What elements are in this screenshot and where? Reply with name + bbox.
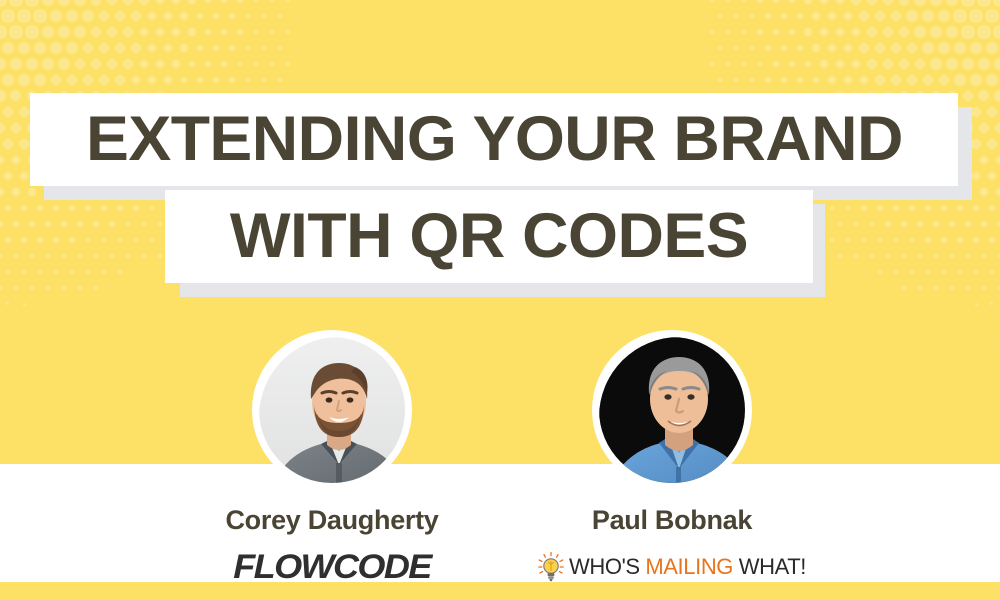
halftone-dot	[189, 61, 196, 68]
halftone-dot	[295, 79, 298, 82]
halftone-dot	[855, 287, 857, 289]
halftone-dot	[156, 60, 164, 68]
whos-mailing-what-logo: WHO'S MAILING WHAT!	[522, 552, 822, 582]
halftone-dot	[812, 12, 819, 19]
halftone-dot	[123, 59, 132, 68]
halftone-dot	[961, 25, 974, 38]
halftone-dot	[820, 0, 828, 4]
halftone-dot	[67, 75, 78, 86]
halftone-dot	[63, 319, 65, 321]
halftone-dot	[9, 0, 23, 7]
halftone-dot	[899, 59, 909, 69]
halftone-dot	[188, 28, 195, 35]
halftone-dot	[55, 335, 57, 337]
halftone-dot	[0, 319, 1, 321]
halftone-dot	[789, 61, 795, 67]
halftone-dot	[286, 0, 289, 2]
halftone-dot	[229, 45, 234, 50]
halftone-dot	[327, 15, 329, 17]
halftone-dot	[303, 31, 306, 34]
halftone-dot	[229, 77, 234, 82]
halftone-dot	[934, 286, 937, 289]
halftone-dot	[990, 302, 993, 305]
halftone-dot	[237, 0, 242, 3]
halftone-dot	[23, 335, 25, 337]
halftone-dot	[895, 303, 897, 305]
halftone-dot	[982, 286, 986, 290]
halftone-dot	[148, 44, 156, 52]
halftone-dot	[181, 77, 188, 84]
halftone-dot	[851, 0, 860, 5]
halftone-dot	[213, 13, 219, 19]
halftone-dot	[883, 27, 893, 37]
halftone-dot	[911, 335, 912, 336]
halftone-dot	[679, 0, 681, 1]
halftone-dot	[278, 14, 282, 18]
halftone-dot	[742, 30, 747, 35]
halftone-dot	[812, 44, 819, 51]
halftone-dot	[180, 44, 187, 51]
halftone-dot	[978, 58, 990, 70]
halftone-dot	[94, 286, 97, 289]
halftone-dot	[863, 303, 865, 305]
title-line-1-text: EXTENDING YOUR BRAND	[86, 108, 903, 171]
halftone-dot	[828, 12, 836, 20]
halftone-dot	[773, 0, 779, 3]
halftone-dot	[781, 45, 787, 51]
halftone-dot	[907, 43, 918, 54]
halftone-dot	[887, 319, 889, 321]
title-line-2: WITH QR CODES	[0, 190, 1000, 285]
halftone-dot	[25, 0, 39, 7]
title-plate: EXTENDING YOUR BRAND	[30, 93, 958, 186]
halftone-dot	[750, 46, 755, 51]
halftone-dot	[970, 42, 983, 55]
halftone-dot	[131, 43, 140, 52]
halftone-dot	[254, 0, 259, 2]
halftone-dot	[205, 61, 211, 67]
halftone-dot	[951, 319, 953, 321]
halftone-dot	[860, 76, 869, 85]
halftone-dot	[962, 58, 974, 70]
halftone-dot	[985, 9, 999, 23]
halftone-dot	[844, 44, 852, 52]
halftone-dot	[99, 75, 109, 85]
halftone-dot	[946, 0, 959, 6]
halftone-dot	[927, 335, 928, 336]
halftone-dot	[993, 0, 1000, 7]
halftone-dot	[123, 27, 133, 37]
halftone-dot	[213, 45, 219, 51]
halftone-dot	[710, 30, 713, 33]
halftone-dot	[859, 43, 868, 52]
halftone-dot	[0, 0, 7, 7]
halftone-dot	[71, 335, 72, 336]
halftone-dot	[687, 47, 689, 49]
halftone-dot	[270, 30, 274, 34]
halftone-dot	[852, 60, 861, 69]
halftone-dot	[0, 25, 7, 39]
halftone-dot	[828, 76, 835, 83]
halftone-dot	[757, 0, 762, 3]
speaker-name: Paul Bobnak	[522, 506, 822, 536]
halftone-dot	[726, 0, 730, 2]
halftone-dot	[111, 287, 114, 290]
halftone-dot	[10, 58, 22, 70]
halftone-dot	[197, 45, 204, 52]
halftone-dot	[156, 28, 164, 36]
halftone-dot	[993, 25, 1000, 39]
halftone-dot	[83, 75, 93, 85]
halftone-dot	[847, 303, 849, 305]
halftone-dot	[902, 286, 905, 289]
halftone-dot	[923, 75, 934, 86]
halftone-dot	[127, 287, 130, 290]
halftone-dot	[930, 26, 942, 38]
halftone-dot	[922, 42, 933, 53]
halftone-dot	[246, 46, 251, 51]
halftone-dot	[757, 29, 762, 34]
halftone-dot	[983, 319, 985, 321]
halftone-dot	[115, 11, 125, 21]
halftone-dot	[17, 9, 31, 23]
halftone-dot	[254, 62, 258, 66]
halftone-dot	[62, 286, 65, 289]
halftone-dot	[119, 303, 121, 305]
halftone-dot	[938, 10, 950, 22]
halftone-dot	[30, 286, 34, 290]
halftone-dot	[107, 0, 117, 5]
halftone-dot	[99, 11, 110, 22]
halftone-dot	[79, 319, 81, 321]
halftone-dot	[914, 26, 925, 37]
halftone-dot	[718, 46, 721, 49]
halftone-dot	[303, 0, 306, 1]
halftone-dot	[871, 287, 874, 290]
halftone-dot	[31, 319, 33, 321]
halftone-dot	[975, 335, 977, 337]
halftone-dot	[734, 78, 738, 82]
halftone-dot	[883, 59, 893, 69]
webinar-banner: EXTENDING YOUR BRAND WITH QR CODES	[0, 0, 1000, 600]
halftone-dot	[127, 319, 128, 320]
halftone-dot	[2, 74, 14, 86]
halftone-dot	[42, 0, 55, 6]
halftone-dot	[899, 27, 910, 38]
halftone-dot	[734, 46, 738, 50]
halftone-dot	[91, 59, 101, 69]
halftone-dot	[237, 29, 242, 34]
halftone-dot	[295, 15, 298, 18]
halftone-dot	[950, 286, 953, 289]
avatar-ring	[592, 330, 752, 490]
halftone-dot	[726, 62, 730, 66]
halftone-dot	[0, 58, 6, 70]
halftone-dot	[946, 26, 959, 39]
halftone-dot	[319, 31, 321, 33]
halftone-dot	[172, 60, 179, 67]
halftone-dot	[172, 28, 180, 36]
halftone-dot	[132, 76, 141, 85]
halftone-dot	[58, 26, 70, 38]
halftone-dot	[970, 74, 982, 86]
halftone-dot	[46, 286, 49, 289]
wmw-word-mailing: MAILING	[645, 554, 733, 579]
halftone-dot	[703, 79, 706, 82]
halftone-dot	[159, 287, 161, 289]
halftone-dot	[238, 62, 243, 67]
halftone-dot	[967, 319, 969, 321]
halftone-dot	[781, 13, 787, 19]
halftone-dot	[820, 28, 828, 36]
title-plate: WITH QR CODES	[165, 190, 813, 283]
halftone-dot	[221, 29, 227, 35]
wmw-logo-text: WHO'S MAILING WHAT!	[569, 554, 806, 580]
halftone-dot	[188, 0, 195, 4]
halftone-dot	[205, 29, 211, 35]
halftone-dot	[844, 12, 853, 21]
halftone-dot	[867, 59, 876, 68]
halftone-dot	[906, 10, 917, 21]
halftone-dot	[39, 303, 42, 306]
halftone-dot	[327, 47, 329, 49]
halftone-dot	[734, 14, 738, 18]
halftone-dot	[773, 61, 779, 67]
halftone-dot	[164, 76, 171, 83]
halftone-dot	[961, 0, 975, 7]
avatar-image-paul	[599, 337, 745, 483]
halftone-dot	[262, 14, 266, 18]
halftone-dot	[820, 60, 827, 67]
halftone-dot	[270, 62, 274, 66]
halftone-dot	[946, 58, 958, 70]
halftone-dot	[278, 46, 281, 49]
halftone-dot	[319, 0, 321, 1]
halftone-dot	[213, 77, 219, 83]
halftone-dot	[23, 303, 26, 306]
halftone-dot	[15, 319, 17, 321]
halftone-dot	[959, 303, 962, 306]
halftone-dot	[33, 9, 46, 22]
halftone-dot	[687, 15, 689, 17]
halftone-dot	[87, 303, 90, 306]
halftone-dot	[75, 59, 86, 70]
halftone-dot	[83, 43, 94, 54]
halftone-dot	[123, 0, 133, 5]
halftone-dot	[977, 0, 991, 7]
halftone-dot	[726, 30, 730, 34]
halftone-dot	[943, 303, 946, 306]
halftone-dot	[47, 319, 49, 321]
halftone-dot	[804, 28, 811, 35]
halftone-dot	[0, 286, 2, 290]
halftone-dot	[954, 42, 966, 54]
halftone-dot	[148, 12, 157, 21]
halftone-dot	[14, 286, 18, 290]
halftone-dot	[859, 11, 868, 20]
halftone-dot	[710, 62, 713, 65]
halftone-dot	[205, 0, 212, 3]
halftone-dot	[39, 335, 41, 337]
halftone-dot	[270, 0, 274, 2]
halftone-dot	[789, 0, 796, 3]
halftone-dot	[26, 58, 38, 70]
halftone-dot	[148, 76, 156, 84]
halftone-dot	[765, 45, 770, 50]
halftone-dot	[773, 29, 779, 35]
halftone-dot	[891, 11, 902, 22]
halftone-dot	[887, 287, 890, 290]
halftone-dot	[855, 319, 856, 320]
halftone-dot	[164, 12, 172, 20]
halftone-dot	[167, 303, 168, 304]
halftone-dot	[229, 13, 235, 19]
halftone-dot	[750, 14, 755, 19]
halftone-dot	[954, 74, 965, 85]
halftone-dot	[875, 43, 885, 53]
halftone-dot	[953, 9, 966, 22]
speaker-card-paul-bobnak: Paul Bobnak W	[522, 330, 822, 582]
halftone-dot	[58, 58, 69, 69]
halftone-dot	[2, 42, 15, 55]
halftone-dot	[78, 286, 81, 289]
halftone-dot	[50, 42, 62, 54]
halftone-dot	[781, 77, 787, 83]
halftone-dot	[710, 0, 713, 2]
halftone-dot	[836, 28, 844, 36]
halftone-dot	[25, 25, 38, 38]
halftone-dot	[679, 31, 681, 33]
halftone-dot	[797, 45, 804, 52]
halftone-dot	[797, 13, 804, 20]
halftone-dot	[34, 74, 45, 85]
halftone-dot	[831, 303, 832, 304]
halftone-dot	[262, 78, 266, 82]
halftone-dot	[914, 0, 926, 6]
halftone-dot	[172, 0, 180, 4]
halftone-dot	[879, 303, 881, 305]
halftone-dot	[867, 27, 877, 37]
halftone-dot	[295, 47, 298, 50]
halftone-dot	[975, 303, 978, 306]
halftone-dot	[66, 10, 78, 22]
halftone-dot	[50, 10, 62, 22]
halftone-dot	[319, 63, 321, 65]
halftone-dot	[899, 0, 910, 6]
halftone-dot	[919, 319, 921, 321]
halftone-dot	[930, 58, 941, 69]
halftone-dot	[930, 0, 942, 6]
wmw-word-what: WHAT!	[739, 554, 806, 579]
halftone-dot	[852, 28, 861, 37]
halftone-dot	[34, 42, 46, 54]
halftone-dot	[836, 60, 844, 68]
halftone-dot	[140, 60, 149, 69]
halftone-dot	[9, 25, 22, 38]
halftone-dot	[180, 12, 187, 19]
halftone-dot	[140, 28, 149, 37]
halftone-dot	[765, 13, 771, 19]
halftone-dot	[66, 42, 77, 53]
halftone-dot	[7, 335, 9, 337]
halftone-dot	[115, 75, 124, 84]
halftone-dot	[797, 77, 803, 83]
halftone-dot	[51, 75, 62, 86]
halftone-dot	[742, 0, 747, 2]
halftone-dot	[891, 43, 901, 53]
halftone-dot	[107, 59, 117, 69]
speaker-card-corey-daugherty: Corey Daugherty FLOWCODE	[182, 330, 482, 587]
halftone-dot	[278, 78, 281, 81]
halftone-dot	[55, 303, 58, 306]
halftone-dot	[911, 303, 914, 306]
halftone-dot	[107, 27, 117, 37]
title-line-2-text: WITH QR CODES	[230, 205, 748, 268]
halftone-dot	[42, 26, 55, 39]
halftone-dot	[966, 286, 970, 290]
halftone-dot	[765, 77, 770, 82]
halftone-dot	[695, 63, 697, 65]
halftone-dot	[311, 15, 313, 17]
halftone-dot	[246, 14, 251, 19]
halftone-dot	[74, 26, 85, 37]
halftone-dot	[311, 79, 313, 81]
halftone-dot	[695, 31, 698, 34]
halftone-dot	[718, 14, 722, 18]
halftone-dot	[844, 76, 852, 84]
halftone-dot	[828, 44, 836, 52]
halftone-dot	[939, 75, 950, 86]
avatar-image-corey	[259, 337, 405, 483]
halftone-dot	[805, 61, 812, 68]
halftone-dot	[891, 75, 901, 85]
halftone-dot	[943, 335, 945, 337]
halftone-dot	[986, 42, 999, 55]
halftone-dot	[286, 62, 289, 65]
bottom-yellow-stripe	[0, 582, 1000, 600]
halftone-dot	[91, 27, 102, 38]
halftone-dot	[262, 46, 266, 50]
halftone-dot	[687, 79, 689, 81]
halftone-dot	[1, 9, 15, 23]
halftone-dot	[804, 0, 811, 4]
halftone-dot	[875, 75, 884, 84]
halftone-dot	[703, 47, 706, 50]
halftone-dot	[311, 47, 313, 49]
title-line-1: EXTENDING YOUR BRAND	[0, 93, 1000, 188]
speaker-name: Corey Daugherty	[182, 506, 482, 536]
halftone-dot	[327, 79, 328, 80]
halftone-dot	[197, 77, 203, 83]
halftone-dot	[836, 0, 844, 4]
halftone-dot	[74, 0, 86, 6]
lightbulb-icon	[538, 552, 564, 582]
halftone-dot	[58, 0, 70, 6]
halftone-dot	[839, 287, 841, 289]
halftone-dot	[111, 319, 113, 321]
halftone-dot	[103, 335, 104, 336]
halftone-dot	[935, 319, 937, 321]
halftone-dot	[875, 11, 885, 21]
halftone-dot	[91, 0, 102, 6]
halftone-dot	[789, 29, 795, 35]
halftone-dot	[922, 10, 934, 22]
halftone-dot	[221, 0, 227, 3]
halftone-dot	[18, 74, 30, 86]
halftone-dot	[994, 58, 1000, 70]
halftone-dot	[991, 335, 993, 337]
halftone-dot	[103, 303, 105, 305]
